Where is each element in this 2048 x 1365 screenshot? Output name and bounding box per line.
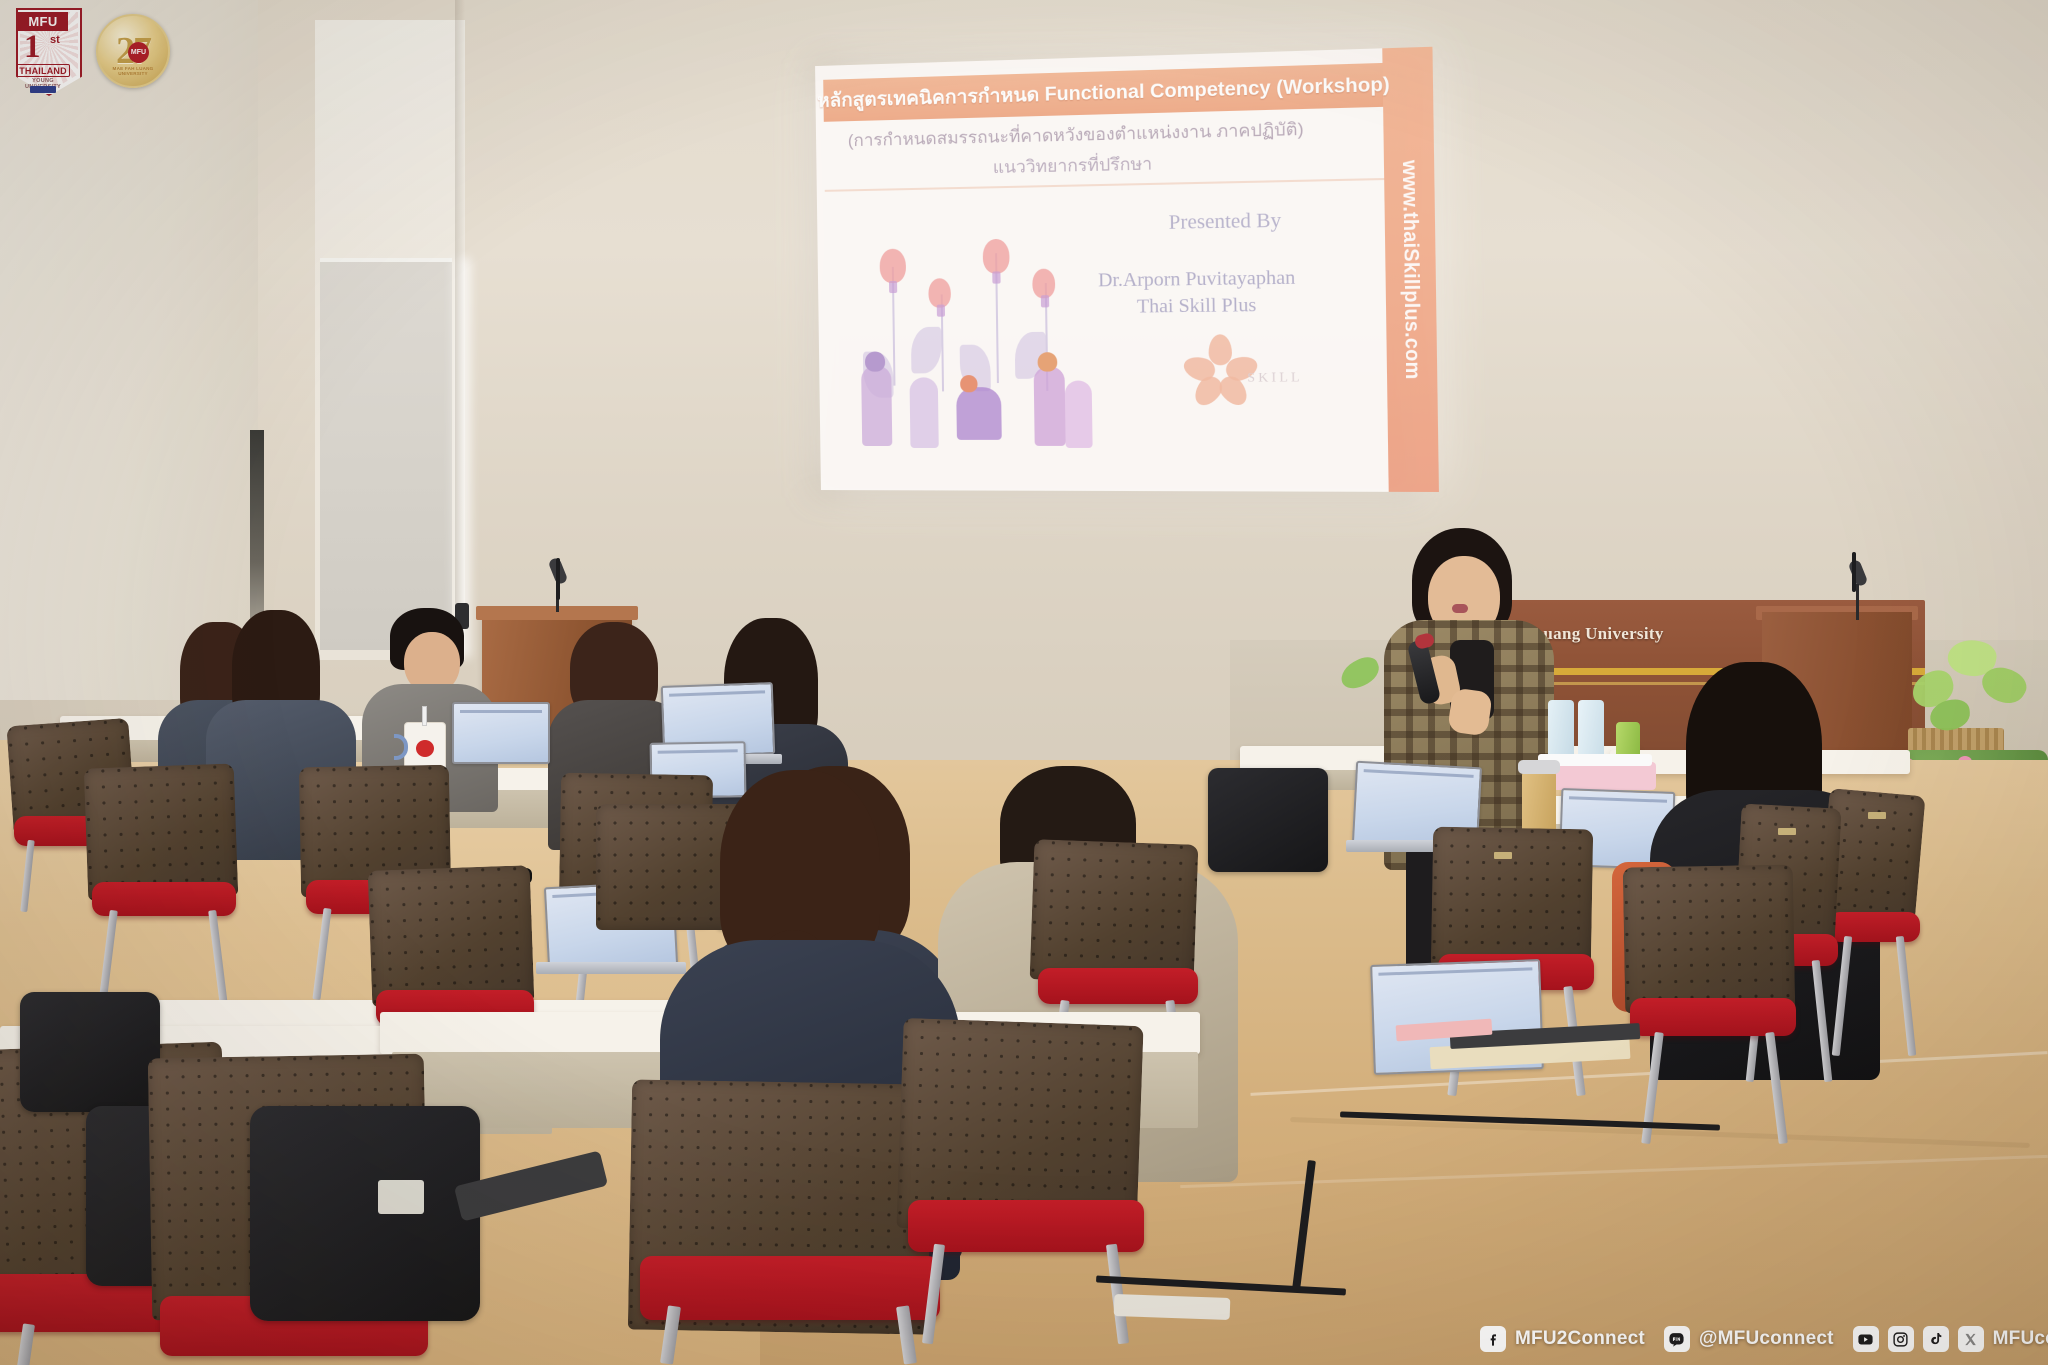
tiktok-icon[interactable]: [1923, 1326, 1949, 1352]
x-twitter-icon[interactable]: [1958, 1326, 1984, 1352]
youtube-icon[interactable]: [1853, 1326, 1879, 1352]
slide-presented-by-label: Presented By: [1169, 209, 1282, 235]
mfu-rank-suffix: st: [50, 34, 60, 46]
speaker-mouth: [1452, 604, 1468, 613]
hanging-mic-cable: [556, 558, 560, 600]
facebook-icon[interactable]: [1480, 1326, 1506, 1352]
wall-left-panel: [0, 0, 258, 700]
slide-url-sidebar: www.thaiSkillplus.com: [1382, 47, 1439, 492]
instagram-icon[interactable]: [1888, 1326, 1914, 1352]
facebook-label: MFU2Connect: [1515, 1328, 1645, 1350]
apple-mug-graphic: [416, 740, 434, 757]
slide-body: หลักสูตรเทคนิคการกำหนด Functional Compet…: [815, 48, 1389, 492]
mfu-rank-number: 1: [24, 31, 41, 64]
microphone-stand-right: [1856, 584, 1859, 620]
backpack-foreground-1: [20, 992, 160, 1112]
mfu-logo-group: MFU 1 st THAILAND YOUNG UNIVERSITY 27 MF…: [10, 6, 170, 102]
mfu-country-label: THAILAND: [16, 64, 70, 77]
slide-logo-text: SKILL: [1247, 369, 1303, 386]
tumbler-metal-lid: [1518, 760, 1560, 774]
projection-screen: หลักสูตรเทคนิคการกำหนด Functional Compet…: [815, 47, 1439, 492]
presenter-org: Thai Skill Plus: [1137, 294, 1257, 317]
window-blind: [320, 258, 452, 650]
slide-title: หลักสูตรเทคนิคการกำหนด Functional Compet…: [817, 69, 1390, 116]
presenter-name: Dr.Arporn Puvitayaphan: [1098, 267, 1296, 291]
backpack-on-chair: [1208, 768, 1328, 872]
line-label: @MFUconnect: [1699, 1328, 1834, 1350]
the-ranking-strip: [30, 86, 56, 93]
x-twitter-label: MFUconnect: [1993, 1328, 2048, 1350]
backpack-foreground-3: [250, 1106, 480, 1321]
bag-logo-patch: [378, 1180, 424, 1214]
power-strip: [1114, 1294, 1231, 1320]
laptop-base: [536, 962, 686, 974]
slide-illustration: [853, 237, 1111, 452]
wall-corner-shadow: [455, 0, 465, 660]
slide-presenter: Dr.Arporn Puvitayaphan Thai Skill Plus: [1076, 265, 1320, 321]
anniversary-caption: MAE FAH LUANG UNIVERSITY: [102, 66, 164, 76]
line-icon[interactable]: [1664, 1326, 1690, 1352]
laptop-screen: [452, 702, 550, 764]
anniversary-inner-mark: MFU: [128, 42, 149, 63]
social-media-bar: MFU2Connect @MFUconnect MFUconnect: [1480, 1322, 2048, 1356]
mug-straw: [422, 706, 427, 726]
photo-canvas: หลักสูตรเทคนิคการกำหนด Functional Compet…: [0, 0, 2048, 1365]
speaker-hand-right: [1447, 687, 1493, 736]
slide-title-bar: หลักสูตรเทคนิคการกำหนด Functional Compet…: [823, 63, 1383, 122]
hanging-mic-cable-2: [1852, 552, 1856, 592]
slide-website-url: www.thaiSkillplus.com: [1397, 160, 1424, 380]
